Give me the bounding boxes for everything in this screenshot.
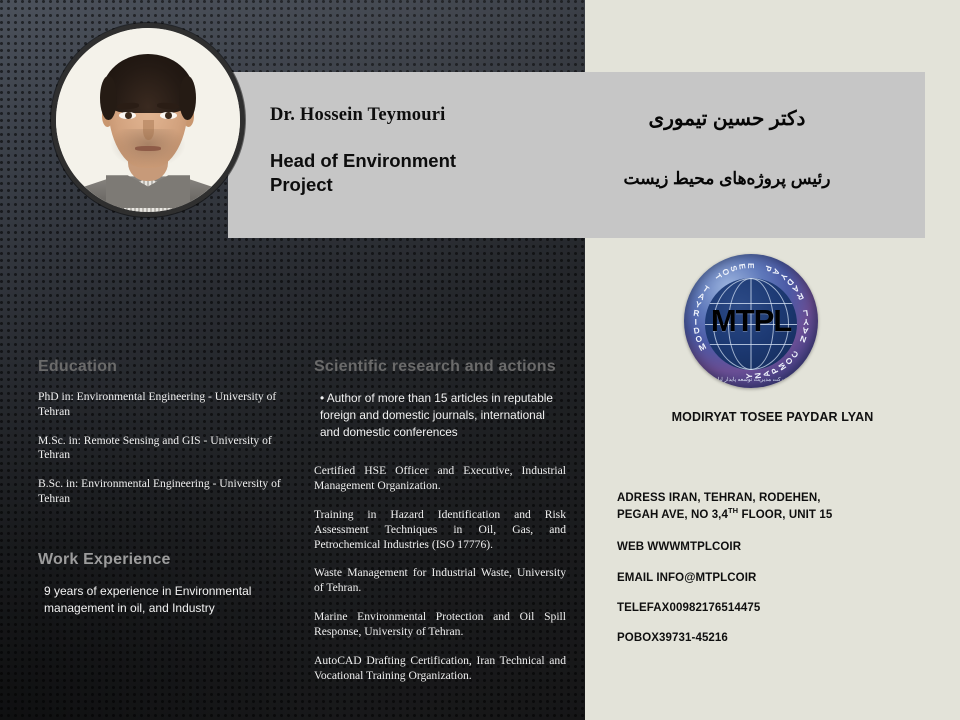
slide-canvas: Dr. Hossein Teymouri Head of Environment… xyxy=(0,0,960,720)
scientific-bullet: • Author of more than 15 articles in rep… xyxy=(314,390,566,440)
contact-block: ADRESS IRAN, TEHRAN, RODEHEN, PEGAH AVE,… xyxy=(617,490,947,661)
contact-address-line2-post: FLOOR, UNIT 15 xyxy=(738,509,832,521)
person-name-farsi: دکتر حسین تیموری xyxy=(577,106,877,132)
person-role-english-line2: Project xyxy=(270,173,610,197)
scientific-item: Waste Management for Industrial Waste, U… xyxy=(314,566,566,596)
person-role-english-line1: Head of Environment xyxy=(270,149,610,173)
company-name: MODIRYAT TOSEE PAYDAR LYAN xyxy=(585,410,960,424)
contact-address-line2: PEGAH AVE, NO 3,4TH FLOOR, UNIT 15 xyxy=(617,506,947,523)
portrait-hair-side-right xyxy=(179,76,196,120)
person-role-farsi: رئیس پروژه‌های محیط زیست xyxy=(577,168,877,190)
education-item: PhD in: Environmental Engineering - Univ… xyxy=(38,390,288,420)
education-item: M.Sc. in: Remote Sensing and GIS - Unive… xyxy=(38,434,288,464)
contact-telefax: TELEFAX00982176514475 xyxy=(617,600,947,616)
person-name-english: Dr. Hossein Teymouri xyxy=(270,104,610,127)
scientific-item: Training in Hazard Identification and Ri… xyxy=(314,508,566,552)
work-experience-item: 9 years of experience in Environmental m… xyxy=(38,583,288,618)
scientific-item: Marine Environmental Protection and Oil … xyxy=(314,610,566,640)
scientific-column: Scientific research and actions • Author… xyxy=(314,358,566,697)
contact-address-line2-pre: PEGAH AVE, NO 3,4 xyxy=(617,509,728,521)
portrait-iris-right xyxy=(165,112,172,120)
name-block-english: Dr. Hossein Teymouri Head of Environment… xyxy=(270,104,610,196)
portrait-photo xyxy=(56,28,240,212)
name-banner: Dr. Hossein Teymouri Head of Environment… xyxy=(228,72,925,238)
logo-outer-ring: MODIRYAT TOSEE PAYDAR LYAN COMPANY MTPL … xyxy=(684,254,818,388)
contact-address-line1: ADRESS IRAN, TEHRAN, RODEHEN, xyxy=(617,490,947,506)
contact-web[interactable]: WEB WWWMTPLCOIR xyxy=(617,539,947,555)
contact-address-ordinal: TH xyxy=(728,506,738,515)
contact-address: ADRESS IRAN, TEHRAN, RODEHEN, PEGAH AVE,… xyxy=(617,490,947,523)
logo-monogram: MTPL xyxy=(711,303,791,339)
work-experience-heading: Work Experience xyxy=(38,551,288,569)
portrait-hair-side-left xyxy=(100,76,117,120)
person-role-english: Head of Environment Project xyxy=(270,149,610,196)
portrait-nose xyxy=(143,120,153,140)
education-item: B.Sc. in: Environmental Engineering - Un… xyxy=(38,477,288,507)
portrait-eye-right xyxy=(160,112,177,120)
company-logo: MODIRYAT TOSEE PAYDAR LYAN COMPANY MTPL … xyxy=(672,252,830,390)
portrait-iris-left xyxy=(125,112,132,120)
education-column: Education PhD in: Environmental Engineer… xyxy=(38,358,288,618)
contact-email[interactable]: EMAIL INFO@MTPLCOIR xyxy=(617,570,947,586)
avatar xyxy=(51,23,245,217)
education-heading: Education xyxy=(38,358,288,376)
scientific-heading: Scientific research and actions xyxy=(314,358,566,376)
contact-pobox: POBOX39731-45216 xyxy=(617,630,947,646)
scientific-item: AutoCAD Drafting Certification, Iran Tec… xyxy=(314,654,566,684)
logo-subtitle-farsi: شرکت مدیریت توسعه پایدار لیان xyxy=(684,377,818,383)
name-block-farsi: دکتر حسین تیموری رئیس پروژه‌های محیط زیس… xyxy=(577,106,877,190)
scientific-item: Certified HSE Officer and Executive, Ind… xyxy=(314,464,566,494)
portrait-mouth xyxy=(135,146,161,151)
